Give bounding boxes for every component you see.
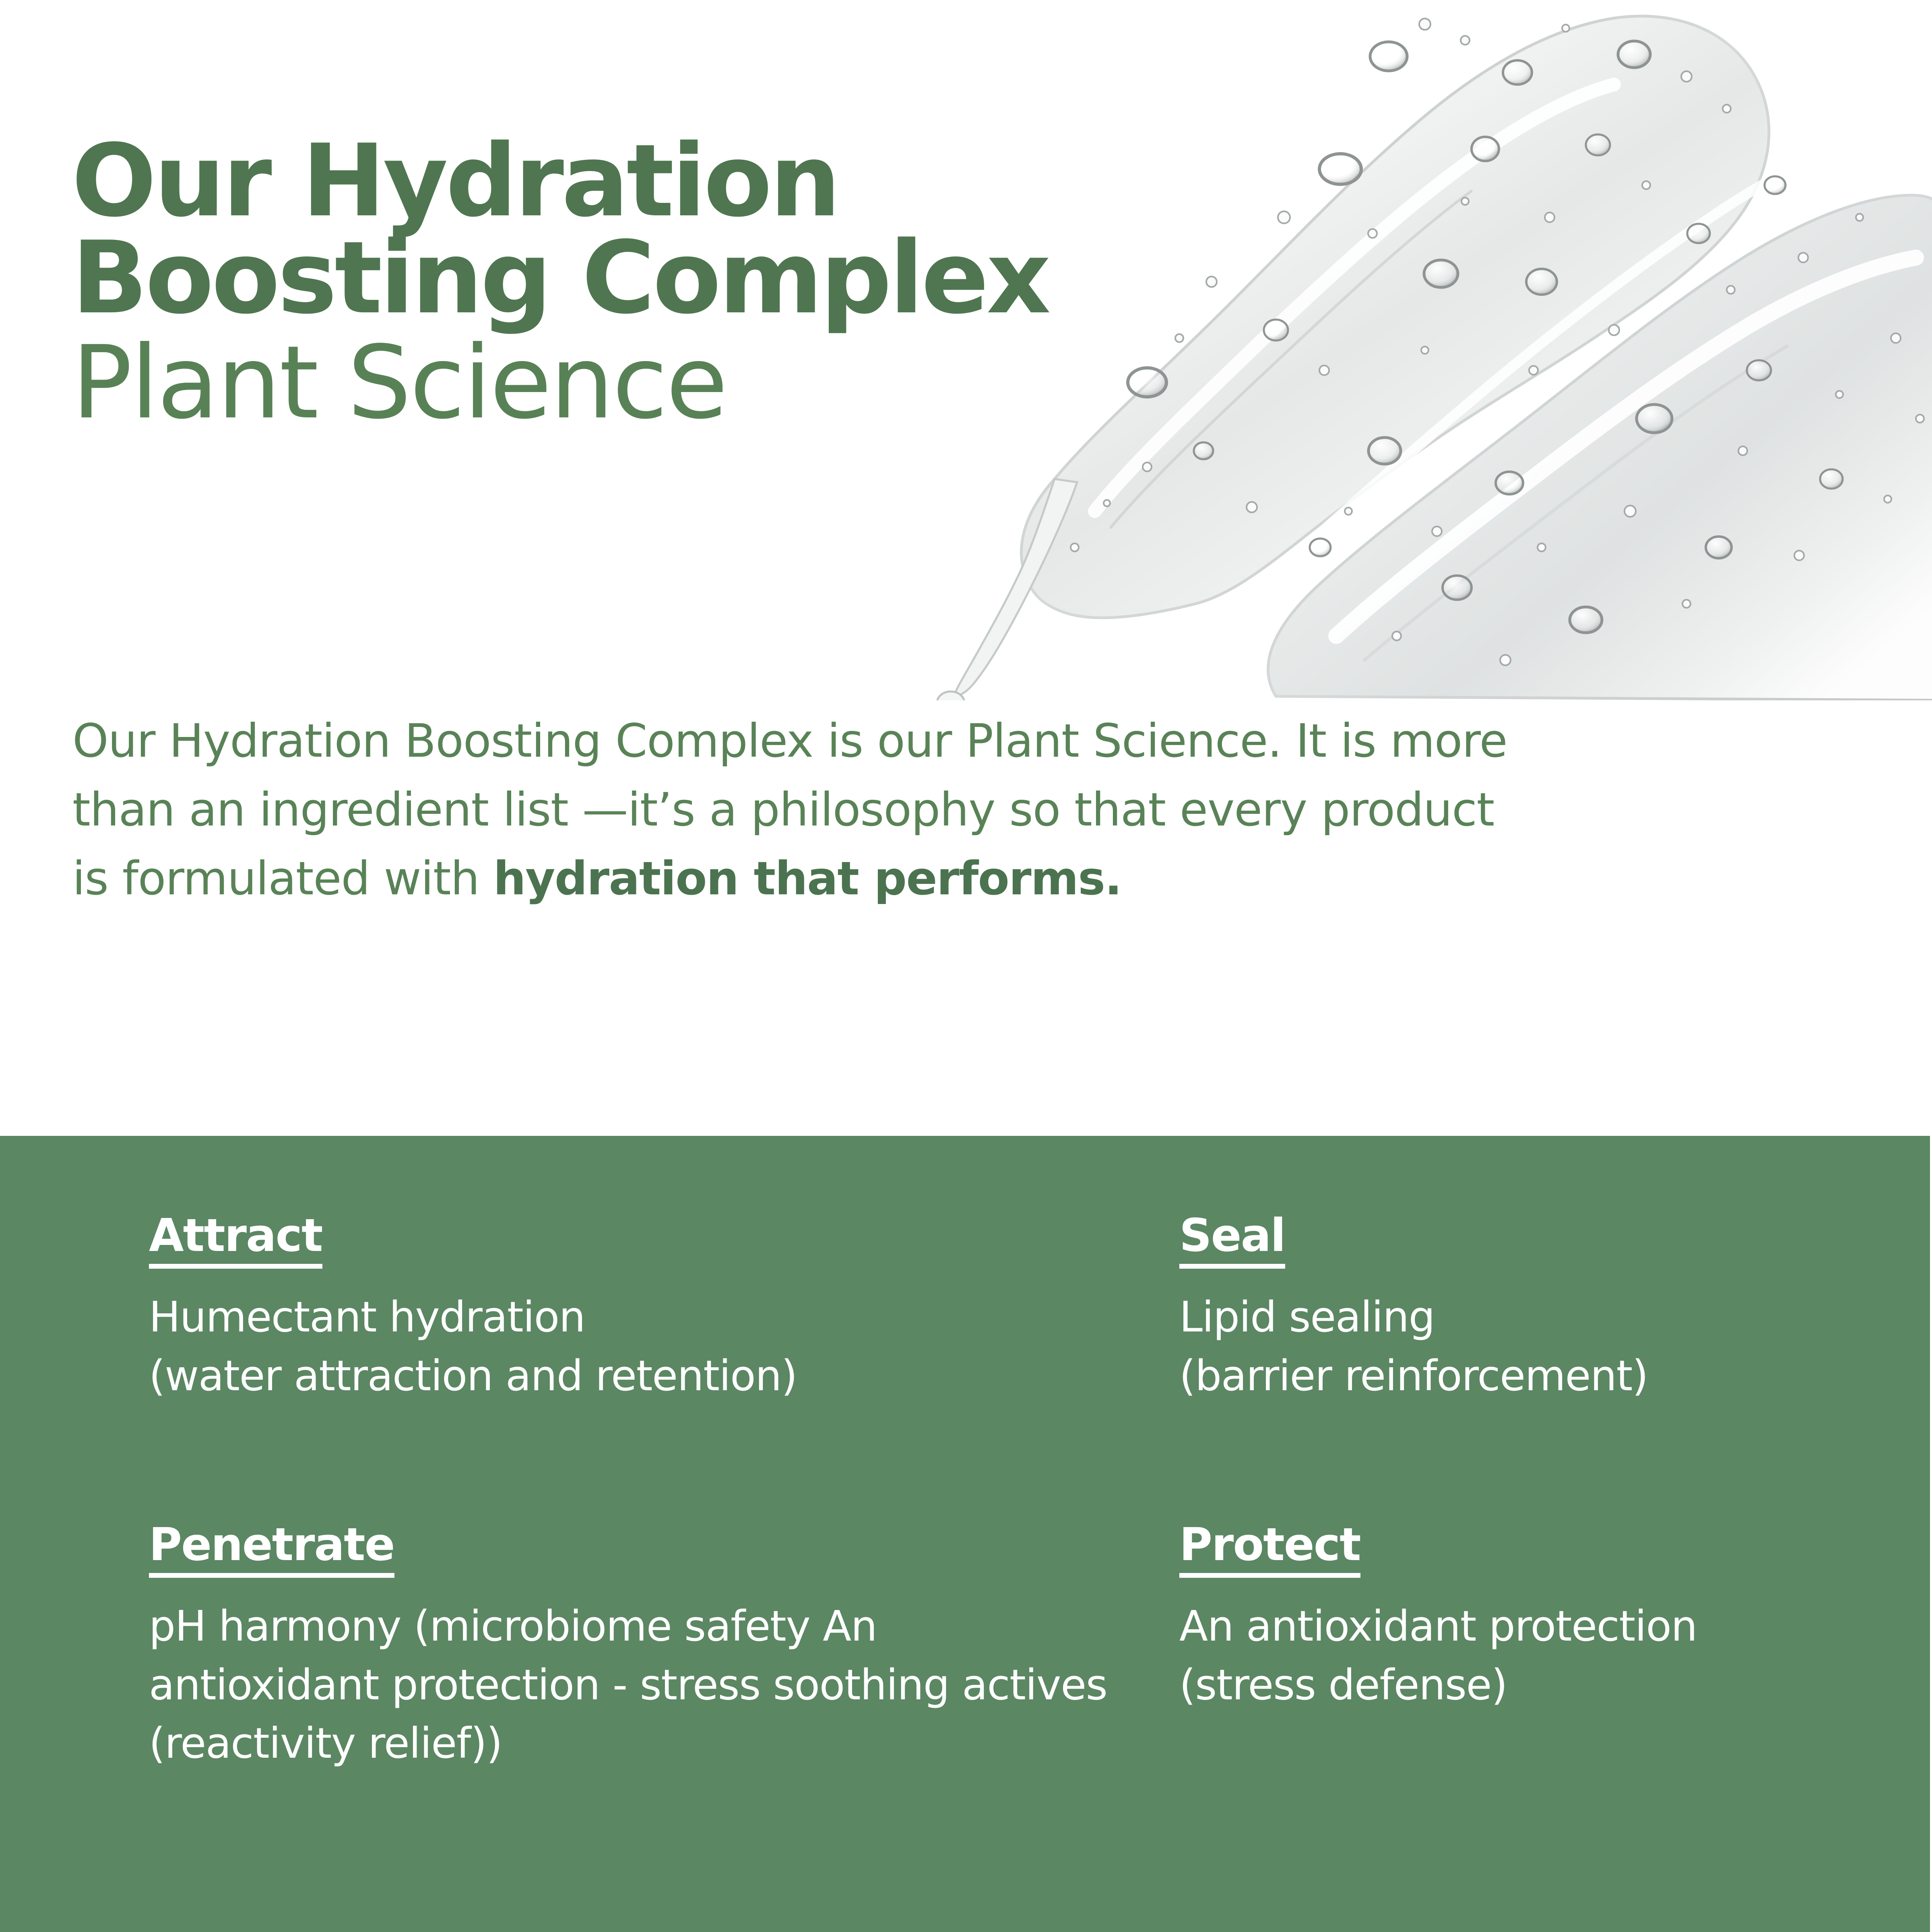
pillars-grid: Attract Humectant hydration (water attra…: [0, 1136, 1930, 1932]
pillar-attract-heading: Attract: [149, 1213, 322, 1269]
pillar-penetrate: Penetrate pH harmony (microbiome safety …: [149, 1522, 1115, 1773]
pillars-panel: Attract Humectant hydration (water attra…: [0, 1136, 1930, 1932]
hero-section: Our Hydration Boosting Complex Plant Sci…: [0, 0, 1932, 1136]
pillar-seal: Seal Lipid sealing (barrier reinforcemen…: [1179, 1213, 1888, 1405]
page-title: Our Hydration Boosting Complex Plant Sci…: [72, 133, 1279, 439]
pillar-seal-heading: Seal: [1179, 1213, 1285, 1269]
pillar-attract-description: Humectant hydration (water attraction an…: [149, 1288, 1115, 1405]
page-subtitle: Plant Science: [72, 326, 1279, 439]
pillar-penetrate-description: pH harmony (microbiome safety An antioxi…: [149, 1597, 1115, 1773]
pillar-attract: Attract Humectant hydration (water attra…: [149, 1213, 1115, 1405]
title-line-2: Boosting Complex: [72, 230, 1279, 327]
intro-emphasis: hydration that performs.: [493, 852, 1122, 905]
pillar-protect-heading: Protect: [1179, 1522, 1360, 1578]
title-line-1: Our Hydration: [72, 133, 1279, 230]
pillar-seal-description: Lipid sealing (barrier reinforcement): [1179, 1288, 1888, 1405]
pillar-penetrate-heading: Penetrate: [149, 1522, 394, 1578]
pillar-protect-description: An antioxidant protection (stress defens…: [1179, 1597, 1888, 1714]
pillar-protect: Protect An antioxidant protection (stres…: [1179, 1522, 1888, 1714]
intro-paragraph: Our Hydration Boosting Complex is our Pl…: [72, 706, 1521, 913]
